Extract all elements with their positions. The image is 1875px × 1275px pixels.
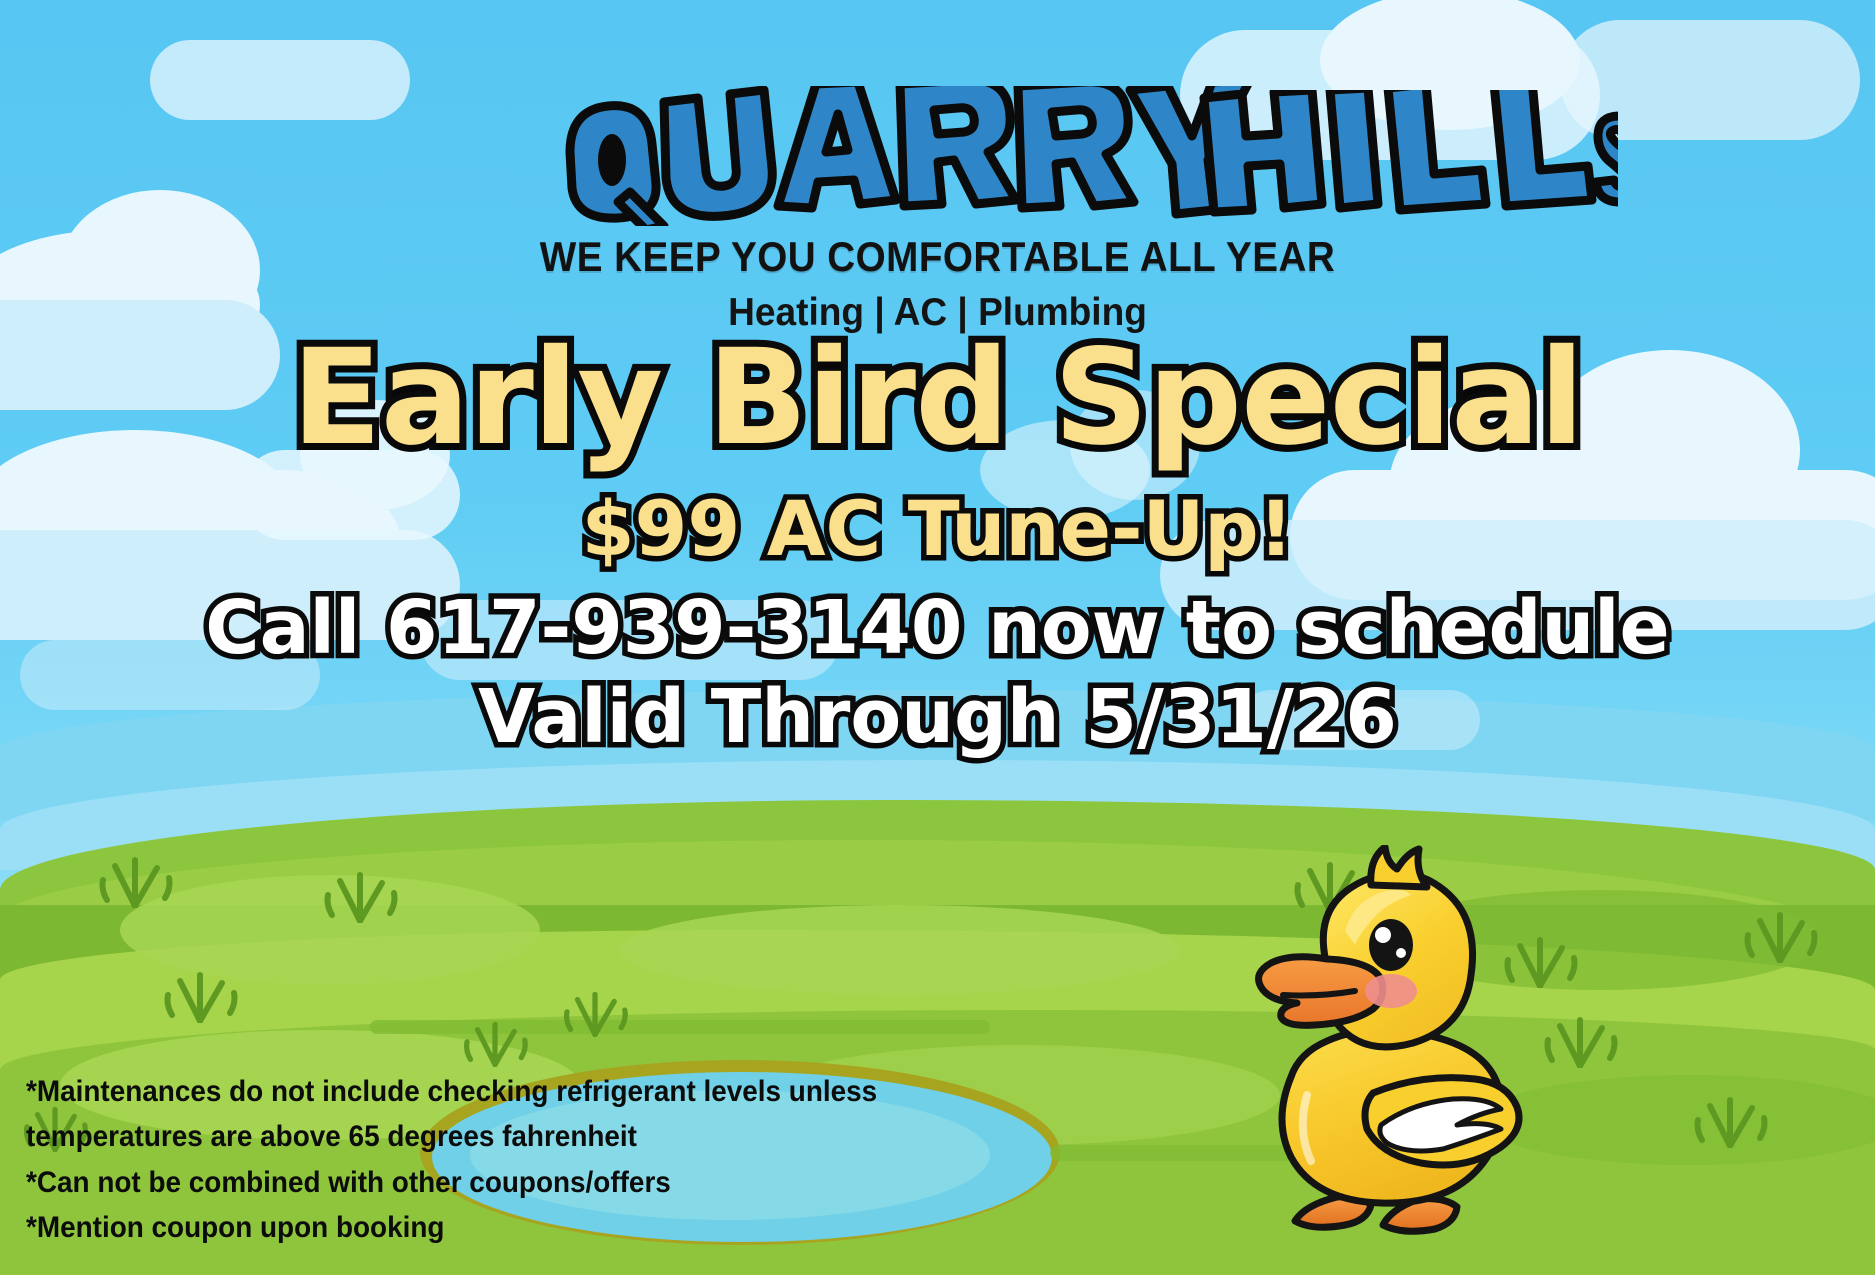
logo-wordmark-hills xyxy=(1198,90,1618,220)
promo-validity: Valid Through 5/31/26 xyxy=(0,676,1875,759)
fine-print-line-1: *Maintenances do not include checking re… xyxy=(26,1069,956,1115)
grass-tuft-10 xyxy=(1690,1090,1770,1148)
advertisement-poster: .lg-fill { fill:#2E86C8; } .lg-out { fil… xyxy=(0,0,1875,1275)
meadow-blob-2 xyxy=(620,905,1180,995)
duckling-illustration xyxy=(1195,845,1555,1245)
promo-headline: Early Bird Special xyxy=(0,330,1875,467)
fine-print-line-2: temperatures are above 65 degrees fahren… xyxy=(26,1114,956,1160)
fine-print-line-3: *Can not be combined with other coupons/… xyxy=(26,1160,956,1206)
fine-print-line-4: *Mention coupon upon booking xyxy=(26,1205,956,1251)
duckling-eye-highlight xyxy=(1375,927,1391,943)
duckling-tuft xyxy=(1371,847,1427,887)
duckling-beak xyxy=(1259,957,1383,1026)
promo-offer: $99 AC Tune-Up! xyxy=(0,485,1875,572)
grass-tuft-3 xyxy=(160,965,240,1023)
quarry-hills-logo: .lg-fill { fill:#2E86C8; } .lg-out { fil… xyxy=(558,86,1318,226)
duckling-eye-highlight-small xyxy=(1396,948,1406,958)
grass-tuft-1 xyxy=(95,850,175,908)
brand-header: .lg-fill { fill:#2E86C8; } .lg-out { fil… xyxy=(0,0,1875,335)
promo-call-to-action[interactable]: Call 617-939-3140 now to schedule xyxy=(0,587,1875,670)
grass-tuft-8 xyxy=(1740,905,1820,963)
fine-print-disclaimers: *Maintenances do not include checking re… xyxy=(26,1069,956,1251)
duckling-cheek xyxy=(1365,974,1417,1008)
duckling-graphic xyxy=(1195,845,1555,1245)
promo-content: Early Bird Special $99 AC Tune-Up! Call … xyxy=(0,330,1875,758)
brand-tagline: WE KEEP YOU COMFORTABLE ALL YEAR xyxy=(75,233,1800,281)
grass-tuft-4 xyxy=(560,985,630,1037)
duckling-eye xyxy=(1369,919,1413,971)
grass-tuft-2 xyxy=(320,865,400,923)
grass-tuft-5 xyxy=(460,1015,530,1067)
